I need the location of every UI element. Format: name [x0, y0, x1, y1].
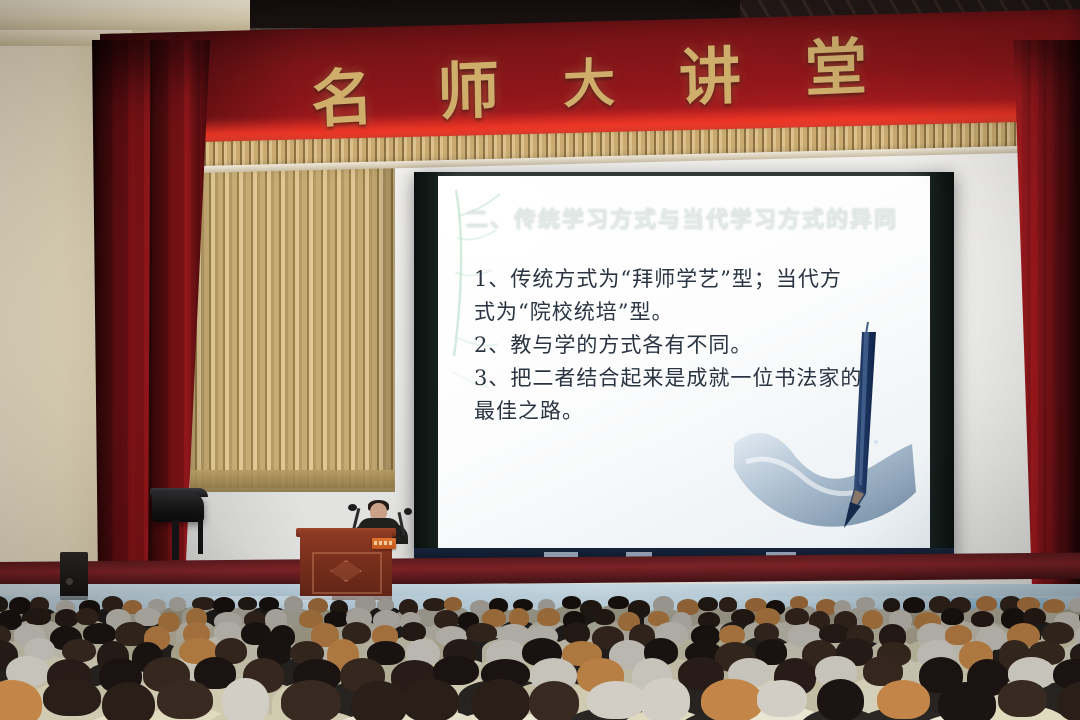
screen-left-dark-band: [414, 172, 438, 560]
audience-member-head: [941, 608, 964, 625]
audience-member-head: [817, 679, 864, 720]
audience-member-head: [43, 679, 101, 716]
audience-member-head: [1043, 599, 1065, 612]
audience-member-head: [785, 608, 809, 625]
audience-member-head: [562, 596, 581, 609]
audience-member-head: [529, 681, 579, 720]
audience-member-head: [998, 680, 1047, 716]
audience-member-head: [55, 609, 79, 627]
audience-member-head: [537, 608, 560, 626]
slide-title: 二、传统学习方式与当代学习方式的异同: [466, 202, 924, 234]
screen-right-dark-band: [930, 172, 954, 560]
gold-backdrop-hem: [190, 470, 395, 492]
audience-member-head: [157, 680, 212, 719]
podium-nameplate: [372, 538, 396, 549]
audience-member-head: [701, 679, 763, 720]
audience-member-head: [719, 625, 744, 644]
microphone-head-left: [348, 504, 357, 511]
audience-member-head: [587, 681, 645, 718]
audience-member-head: [877, 680, 930, 719]
lecture-hall-photo: 名 师 大 讲 堂 二、传统学习方式与当代学习方式的异同 1、传统方式为“拜师学…: [0, 0, 1080, 720]
audience-member-head: [938, 682, 996, 720]
audience-member-head: [466, 623, 497, 642]
audience-member-head: [1069, 598, 1080, 612]
audience-member-head: [731, 609, 755, 625]
audience-member-head: [169, 597, 186, 611]
audience-crowd: [0, 596, 1080, 720]
gold-pleated-backdrop: [190, 158, 395, 488]
audience-member-head: [25, 608, 50, 625]
audience-member-head: [976, 596, 996, 611]
audience-member-head: [102, 682, 155, 720]
calligraphy-brush-icon: [716, 316, 926, 546]
audience-member-head: [281, 680, 342, 720]
microphone-head-right: [404, 508, 412, 515]
audience-member-head: [608, 596, 629, 609]
audience-member-head: [719, 597, 738, 612]
slide-line-1: 1、传统方式为“拜师学艺”型；当代方: [474, 264, 894, 295]
presentation-slide: 二、传统学习方式与当代学习方式的异同 1、传统方式为“拜师学艺”型；当代方 式为…: [438, 176, 930, 548]
audience-member-head: [377, 598, 394, 612]
piano-leg-front: [172, 520, 179, 560]
audience-member-head: [640, 678, 690, 720]
left-wall: [0, 0, 105, 640]
audience-member-head: [856, 597, 874, 610]
audience-member-head: [213, 597, 236, 614]
audience-member-head: [471, 679, 531, 720]
piano-leg-rear: [198, 518, 203, 554]
audience-member-head: [284, 596, 303, 612]
audience-member-head: [790, 596, 809, 609]
audience-member-head: [402, 679, 459, 720]
grand-piano: [152, 492, 204, 522]
audience-member-head: [238, 597, 257, 610]
pa-speaker-cabinet: [60, 552, 88, 600]
audience-member-head: [222, 678, 269, 720]
audience-member-head: [698, 597, 717, 611]
audience-member-head: [757, 680, 807, 717]
audience-member-head: [594, 609, 616, 626]
audience-member-head: [971, 611, 994, 627]
